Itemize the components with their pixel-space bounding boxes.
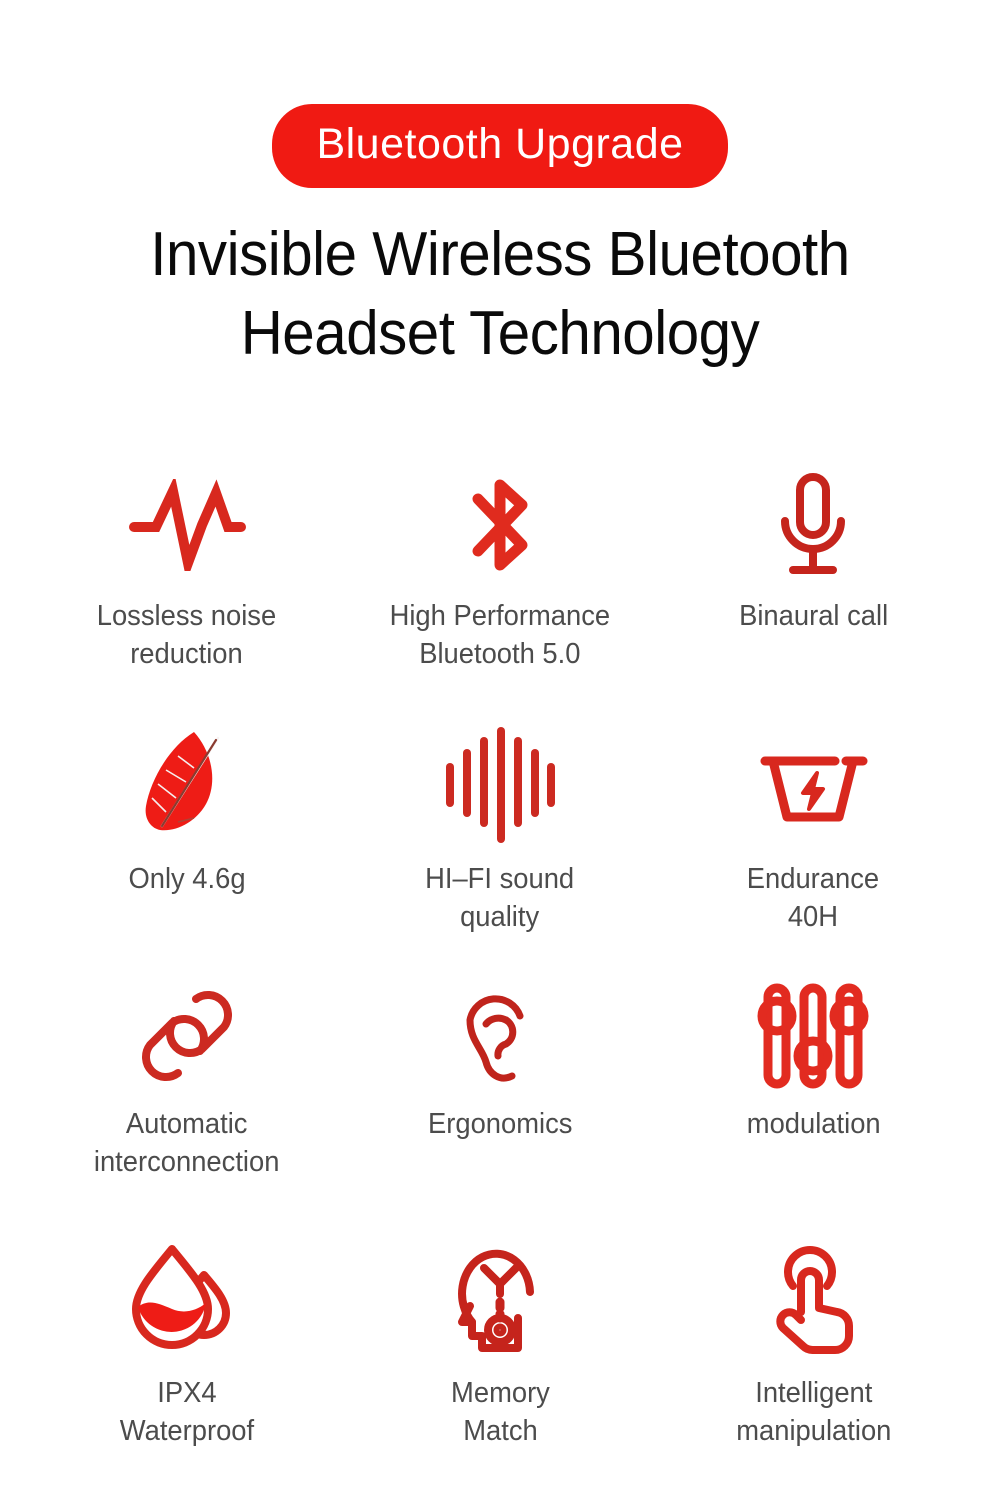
bluetooth-icon	[452, 466, 548, 584]
feature-label-line-1: Binaural call	[739, 598, 888, 636]
feature-label: Automatic interconnection	[94, 1106, 280, 1182]
badge-row: Bluetooth Upgrade	[0, 104, 1000, 188]
feature-label-line-2: Match	[451, 1413, 550, 1451]
feature-label-line-1: Automatic	[94, 1106, 280, 1144]
waveform-icon	[128, 466, 246, 584]
feature-label: Lossless noise reduction	[97, 598, 276, 674]
feature-item-ipx4-waterproof: IPX4 Waterproof	[30, 1237, 343, 1494]
feature-label-line-2: Waterproof	[120, 1413, 254, 1451]
feature-label: Only 4.6g	[128, 861, 245, 899]
feature-label-line-2: 40H	[747, 899, 879, 937]
feature-label: Endurance 40H	[747, 861, 879, 937]
feature-label-line-1: Intelligent	[736, 1375, 891, 1413]
feature-label-line-2: Bluetooth 5.0	[390, 636, 611, 674]
feature-label-line-1: IPX4	[120, 1375, 254, 1413]
feature-item-binaural-call: Binaural call	[657, 466, 970, 723]
feature-label-line-1: modulation	[746, 1106, 880, 1144]
feature-label-line-1: High Performance	[390, 598, 611, 636]
page-title-line-1: Invisible Wireless Bluetooth	[77, 215, 923, 294]
header: Bluetooth Upgrade Invisible Wireless Blu…	[0, 0, 1000, 374]
head-memory-icon	[448, 1237, 552, 1357]
feature-item-automatic-interconnection: Automatic interconnection	[30, 980, 343, 1237]
equalizer-sliders-icon	[754, 980, 872, 1092]
feature-item-high-performance-bluetooth: High Performance Bluetooth 5.0	[343, 466, 656, 723]
feather-icon	[132, 723, 242, 847]
sound-bars-icon	[441, 723, 559, 847]
feature-item-endurance-40h: Endurance 40H	[657, 723, 970, 980]
feature-label: IPX4 Waterproof	[120, 1375, 254, 1451]
feature-item-modulation: modulation	[657, 980, 970, 1237]
feature-label-line-2: manipulation	[736, 1413, 891, 1451]
feature-label-line-1: Only 4.6g	[128, 861, 245, 899]
feature-label-line-1: Endurance	[747, 861, 879, 899]
ear-icon	[454, 980, 546, 1092]
feature-label-line-1: HI–FI sound	[425, 861, 574, 899]
feature-item-memory-match: Memory Match	[343, 1237, 656, 1494]
feature-label-line-1: Memory	[451, 1375, 550, 1413]
feature-item-lossless-noise-reduction: Lossless noise reduction	[30, 466, 343, 723]
touch-hand-icon	[761, 1237, 865, 1357]
feature-label: Intelligent manipulation	[736, 1375, 891, 1451]
feature-label: Memory Match	[451, 1375, 550, 1451]
battery-charge-icon	[751, 723, 875, 847]
feature-label: modulation	[746, 1106, 880, 1144]
feature-item-hifi-sound-quality: HI–FI sound quality	[343, 723, 656, 980]
feature-label: Binaural call	[739, 598, 888, 636]
feature-grid: Lossless noise reduction High Performanc…	[30, 466, 970, 1494]
feature-label-line-1: Ergonomics	[428, 1106, 572, 1144]
feature-label-line-2: quality	[425, 899, 574, 937]
bluetooth-upgrade-badge: Bluetooth Upgrade	[272, 104, 727, 188]
chain-link-icon	[132, 980, 242, 1092]
page-title: Invisible Wireless Bluetooth Headset Tec…	[77, 215, 923, 374]
feature-label: Ergonomics	[428, 1106, 572, 1144]
feature-label-line-2: reduction	[97, 636, 276, 674]
feature-item-only-4-6g: Only 4.6g	[30, 723, 343, 980]
feature-label: High Performance Bluetooth 5.0	[390, 598, 611, 674]
feature-item-ergonomics: Ergonomics	[343, 980, 656, 1237]
microphone-icon	[767, 466, 859, 584]
feature-label: HI–FI sound quality	[425, 861, 574, 937]
feature-label-line-2: interconnection	[94, 1144, 280, 1182]
page-title-line-2: Headset Technology	[77, 294, 923, 373]
feature-label-line-1: Lossless noise	[97, 598, 276, 636]
feature-item-intelligent-manipulation: Intelligent manipulation	[657, 1237, 970, 1494]
water-drops-icon	[128, 1237, 246, 1357]
infographic-page: Bluetooth Upgrade Invisible Wireless Blu…	[0, 0, 1000, 1509]
